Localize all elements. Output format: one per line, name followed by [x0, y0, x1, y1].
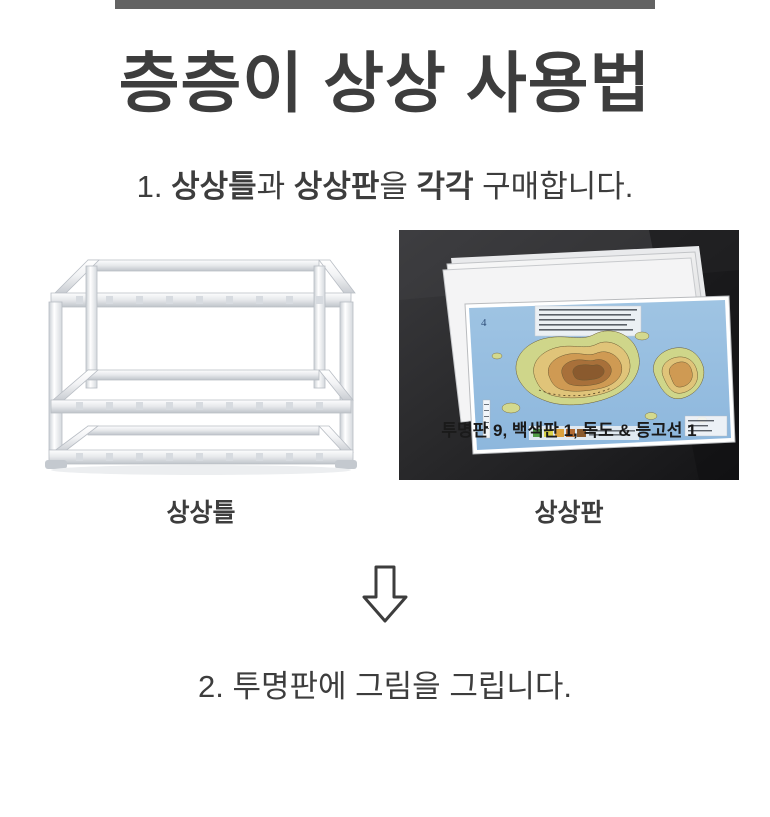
step-1-part-6: 구매합니다.	[474, 169, 634, 204]
board-caption: 상상판	[534, 493, 603, 529]
top-divider-bar-fill	[115, 0, 655, 9]
product-board: 4	[399, 230, 739, 529]
step-1-part-3: 상상판	[294, 169, 380, 204]
board-overlay-text: 투명판 9, 백색판 1, 독도 & 등고선 1	[399, 416, 739, 441]
step-1-part-5: 각각	[417, 169, 474, 204]
rack-caption: 상상틀	[166, 493, 235, 529]
map-number-label: 4	[481, 317, 487, 329]
step-1-number: 1.	[137, 169, 163, 204]
top-divider-bar	[0, 0, 770, 12]
board-illustration: 4	[399, 230, 739, 480]
step-1-text: 1. 상상틀과 상상판을 각각 구매합니다.	[0, 170, 770, 204]
rack-illustration	[31, 230, 371, 480]
product-rack: 상상틀	[31, 230, 371, 529]
board-photo: 4	[399, 230, 739, 480]
step-1-part-4: 을	[379, 169, 416, 204]
arrow-container	[0, 563, 770, 625]
product-row: 상상틀	[0, 230, 770, 529]
step-1-part-2: 과	[257, 169, 294, 204]
step-1-part-1: 상상틀	[171, 169, 257, 204]
down-arrow-icon	[354, 563, 416, 625]
page-title: 층층이 상상 사용법	[0, 50, 770, 116]
step-2-text: 2. 투명판에 그림을 그립니다.	[0, 661, 770, 706]
rack-photo	[31, 230, 371, 480]
